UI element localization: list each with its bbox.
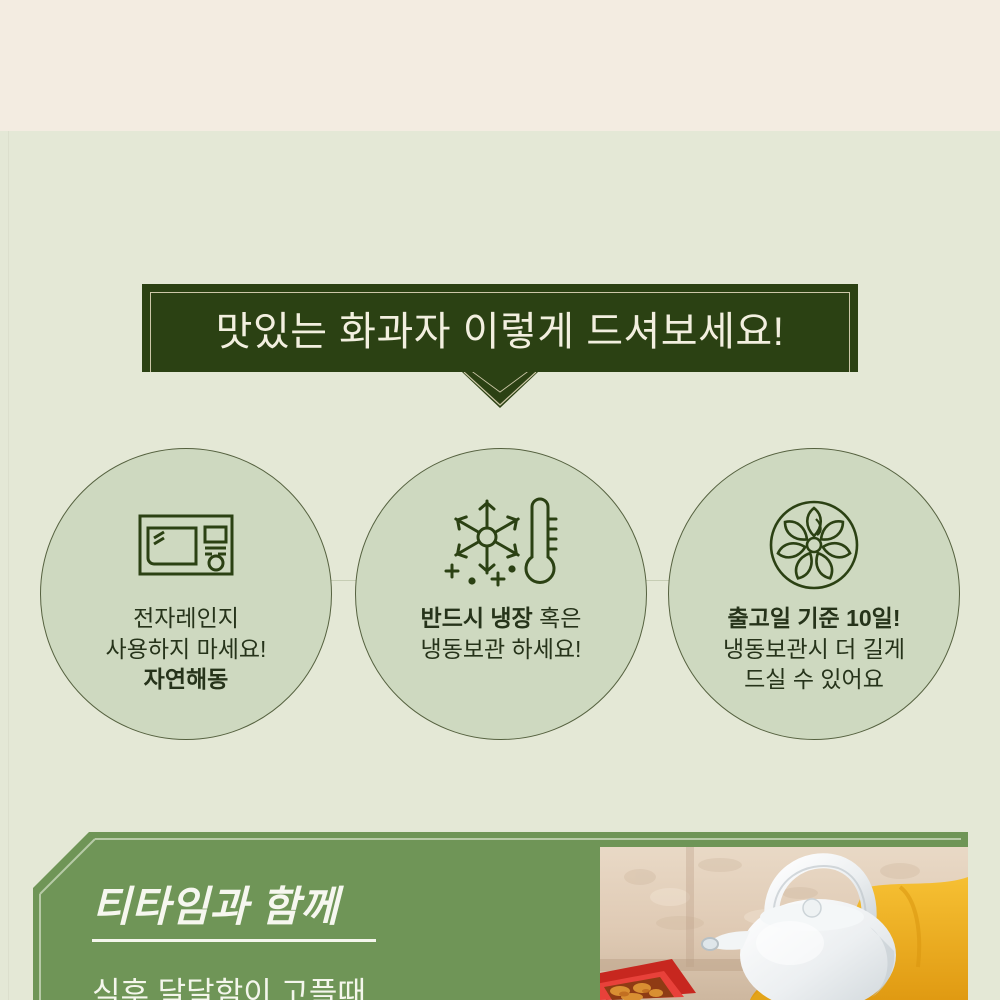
- feature-circle-shelf-life: 출고일 기준 10일! 냉동보관시 더 길게 드실 수 있어요: [668, 448, 960, 740]
- headline-banner: 맛있는 화과자 이렇게 드셔보세요!: [142, 284, 858, 408]
- top-cream-band: [0, 0, 1000, 131]
- feature-line: 반드시 냉장 혹은: [421, 603, 582, 634]
- feature-caption-shelf-life: 출고일 기준 10일! 냉동보관시 더 길게 드실 수 있어요: [723, 603, 905, 695]
- feature-line-suffix: 혹은: [533, 605, 582, 631]
- feature-line: 냉동보관시 더 길게: [723, 634, 905, 665]
- headline-banner-box: 맛있는 화과자 이렇게 드셔보세요!: [142, 284, 858, 372]
- banner-tail: [142, 372, 858, 408]
- teatime-photo: [600, 847, 968, 1000]
- product-detail-page: 맛있는 화과자 이렇게 드셔보세요!: [0, 0, 1000, 1000]
- feature-line: 사용하지 마세요!: [106, 634, 267, 665]
- teatime-heading: 티타임과 함께: [92, 873, 339, 934]
- flower-circle-icon: [768, 493, 860, 597]
- left-edge-divider: [8, 131, 9, 1000]
- feature-line: 드실 수 있어요: [723, 664, 905, 695]
- headline-banner-title: 맛있는 화과자 이렇게 드셔보세요!: [216, 299, 785, 357]
- feature-line: 전자레인지: [106, 603, 267, 634]
- feature-caption-refrigerate: 반드시 냉장 혹은 냉동보관 하세요!: [421, 603, 582, 664]
- feature-circle-refrigerate: 반드시 냉장 혹은 냉동보관 하세요!: [355, 448, 647, 740]
- snowflake-thermometer-icon: [440, 493, 562, 597]
- feature-caption-microwave: 전자레인지 사용하지 마세요! 자연해동: [106, 603, 267, 695]
- feature-line-bold: 출고일 기준 10일!: [723, 603, 905, 634]
- feature-line-bold: 자연해동: [106, 664, 267, 695]
- feature-line-bold: 반드시 냉장: [421, 605, 533, 631]
- teatime-heading-rule: [92, 939, 376, 942]
- feature-circle-microwave: 전자레인지 사용하지 마세요! 자연해동: [40, 448, 332, 740]
- teatime-subtitle: 식후 달달함이 고플때: [92, 968, 366, 1000]
- microwave-icon: [138, 493, 234, 597]
- feature-line: 냉동보관 하세요!: [421, 634, 582, 665]
